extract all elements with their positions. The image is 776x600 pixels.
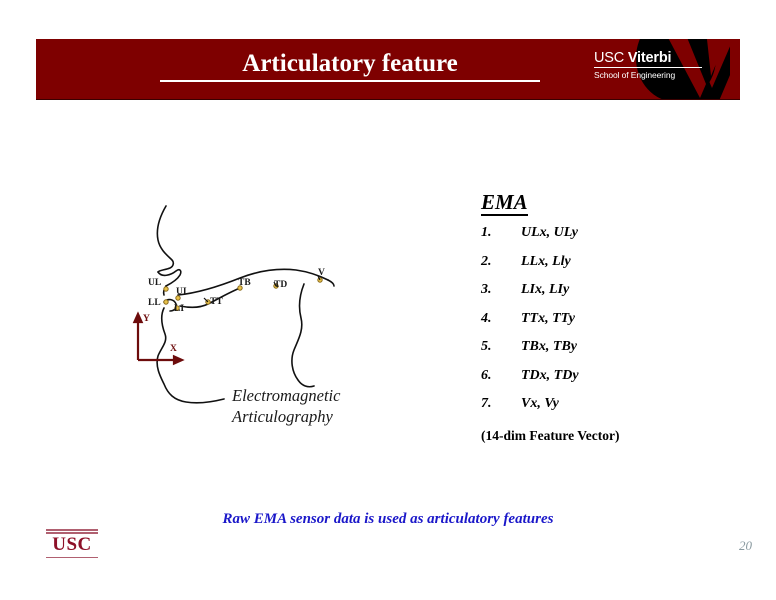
list-item-number: 4. [481, 311, 521, 327]
sensor-label-tb: TB [238, 278, 251, 288]
diagram-caption-line2: Articulography [232, 406, 412, 427]
viterbi-usc-text: USC [594, 50, 628, 66]
list-item: 4. TTx, TTy [481, 311, 731, 340]
slide-title-banner: Articulatory feature USC Viterbi School … [36, 39, 740, 99]
list-item-number: 3. [481, 282, 521, 298]
list-item-value: ULx, ULy [521, 225, 731, 241]
list-item: 3. LIx, LIy [481, 282, 731, 311]
viterbi-divider [594, 67, 702, 68]
usc-logo-rule-bottom [46, 557, 98, 559]
ema-footnote: (14-dim Feature Vector) [481, 428, 731, 444]
axis-x-arrowhead [174, 356, 182, 363]
sensor-label-ui: UI [176, 287, 187, 297]
pharyngeal-wall-path [292, 284, 314, 387]
list-item: 6. TDx, TDy [481, 368, 731, 397]
axis-label-x: X [170, 344, 177, 354]
viterbi-school-text: School of Engineering [594, 70, 706, 80]
list-item-value: LLx, Lly [521, 254, 731, 270]
list-item-number: 7. [481, 396, 521, 412]
sensor-dot-ll [164, 300, 168, 304]
sensor-label-tt: TT [210, 297, 223, 307]
sensor-label-li: LI [174, 304, 184, 314]
ema-heading: EMA [481, 190, 528, 216]
ema-feature-panel: EMA 1. ULx, ULy 2. LLx, Lly 3. LIx, LIy … [481, 190, 731, 444]
nostril-path [158, 270, 181, 286]
list-item: 2. LLx, Lly [481, 254, 731, 283]
list-item-number: 6. [481, 368, 521, 384]
ema-feature-list: 1. ULx, ULy 2. LLx, Lly 3. LIx, LIy 4. T… [481, 225, 731, 425]
list-item: 1. ULx, ULy [481, 225, 731, 254]
chin-jaw-path [157, 308, 224, 403]
nose-profile-path [157, 206, 173, 272]
usc-logo-text: USC [46, 534, 98, 556]
list-item-value: TTx, TTy [521, 311, 731, 327]
sensor-label-v: V [318, 268, 325, 278]
list-item: 7. Vx, Vy [481, 396, 731, 425]
summary-callout: Raw EMA sensor data is used as articulat… [0, 511, 776, 528]
sensor-dot-ul [164, 287, 168, 291]
usc-footer-logo: USC [46, 529, 98, 558]
page-number: 20 [739, 538, 752, 554]
list-item-number: 5. [481, 339, 521, 355]
diagram-caption: Electromagnetic Articulography [232, 385, 412, 427]
list-item-value: LIx, LIy [521, 282, 731, 298]
list-item-number: 1. [481, 225, 521, 241]
sensor-label-td: TD [274, 280, 287, 290]
palate-arch-path [178, 269, 328, 295]
list-item-value: TBx, TBy [521, 339, 731, 355]
page-title: Articulatory feature [160, 49, 540, 82]
list-item-number: 2. [481, 254, 521, 270]
list-item-value: TDx, TDy [521, 368, 731, 384]
sensor-label-ul: UL [148, 278, 161, 288]
viterbi-title-line: USC Viterbi [594, 50, 706, 66]
diagram-caption-line1: Electromagnetic [232, 385, 412, 406]
viterbi-wordmark: USC Viterbi School of Engineering [594, 50, 706, 80]
axis-label-y: Y [143, 314, 150, 324]
usc-viterbi-logo: USC Viterbi School of Engineering [580, 39, 740, 99]
viterbi-name-text: Viterbi [628, 50, 671, 66]
list-item-value: Vx, Vy [521, 396, 731, 412]
list-item: 5. TBx, TBy [481, 339, 731, 368]
sensor-label-ll: LL [148, 298, 161, 308]
velum-tail-path [328, 280, 334, 286]
axis-y-arrowhead [134, 314, 141, 322]
usc-logo-rule-top [46, 529, 98, 531]
